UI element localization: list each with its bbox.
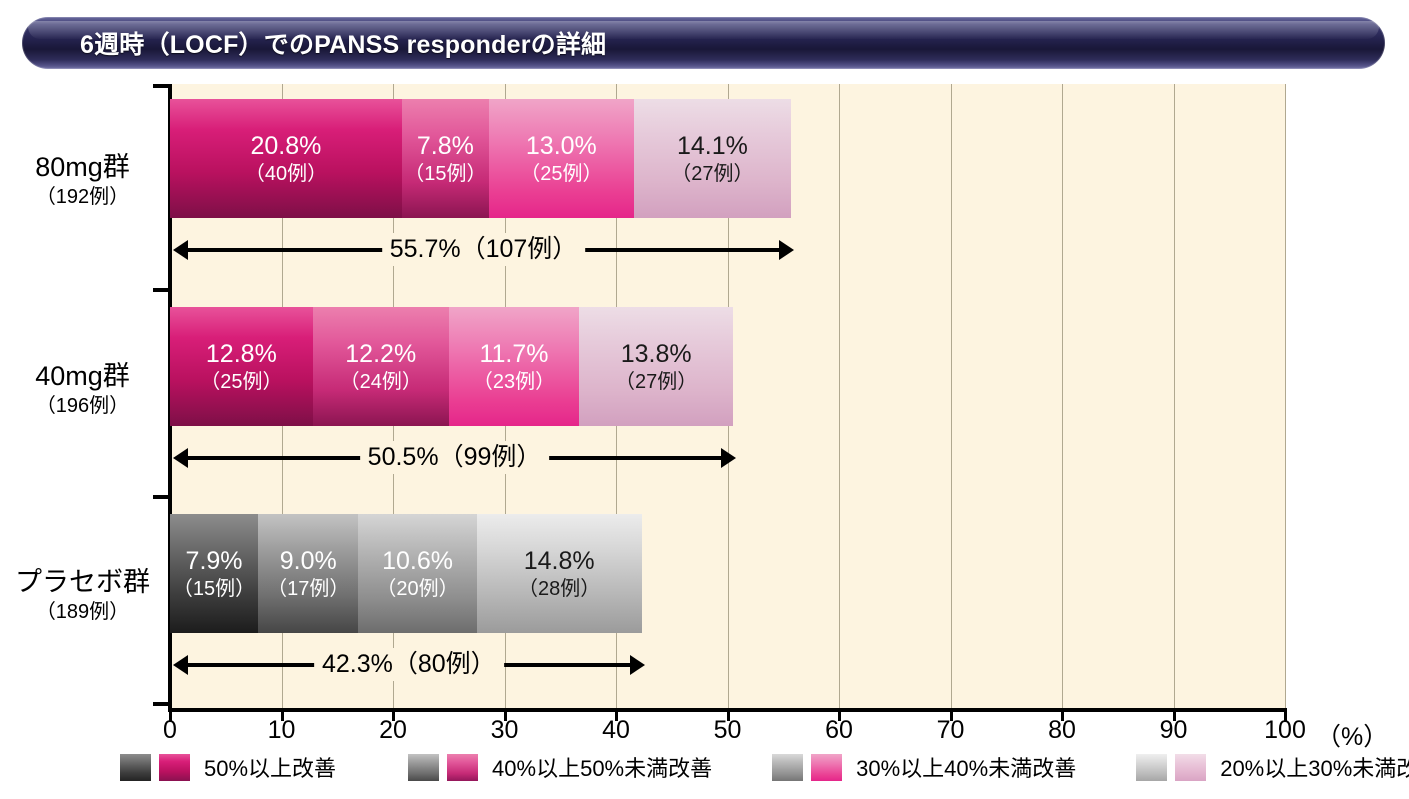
segment-percent-label: 12.2% [345,339,416,369]
category-n: （189例） [0,599,165,625]
y-axis-tick [153,495,172,499]
legend: 50%以上改善40%以上50%未満改善30%以上40%未満改善20%以上30%未… [120,750,1335,784]
segment-count-label: （15例） [173,576,255,602]
legend-label: 30%以上40%未満改善 [856,751,1076,783]
bar-segment: 14.1%（27例） [634,99,791,218]
bar-segment: 20.8%（40例） [170,99,402,218]
x-axis-tick-label: 70 [921,716,981,745]
segment-percent-label: 9.0% [280,546,337,576]
legend-swatch-pink [447,754,478,781]
gridline [1062,84,1063,710]
segment-percent-label: 13.0% [526,131,597,161]
segment-percent-label: 7.9% [186,546,243,576]
segment-percent-label: 10.6% [382,546,453,576]
category-n: （192例） [0,184,165,210]
arrow-head-right-icon [779,240,794,260]
gridline [1285,84,1286,710]
category-n: （196例） [0,393,165,419]
category-label-80mg: 80mg群 （192例） [0,151,165,210]
title-banner: 6週時（LOCF）でのPANSS responderの詳細 [22,17,1385,69]
x-axis-tick-label: 100 [1255,716,1315,745]
bar-segment: 7.9%（15例） [170,514,258,633]
x-axis-tick-label: 10 [252,716,312,745]
total-label: 42.3%（80例） [314,648,504,681]
segment-percent-label: 7.8% [417,131,474,161]
arrow-head-right-icon [630,655,645,675]
y-axis-tick [153,84,172,88]
bar-segment: 10.6%（20例） [358,514,476,633]
segment-percent-label: 14.1% [677,131,748,161]
category-name: 40mg群 [0,360,165,393]
legend-swatch-gray [120,754,151,781]
legend-item[interactable]: 50%以上改善 [120,751,336,783]
bar-segment: 11.7%（23例） [449,307,579,426]
bar-row-80mg: 20.8%（40例）7.8%（15例）13.0%（25例）14.1%（27例） [170,99,791,218]
page-title: 6週時（LOCF）でのPANSS responderの詳細 [80,17,606,69]
legend-swatch-gray [408,754,439,781]
segment-count-label: （17例） [267,576,349,602]
bar-row-40mg: 12.8%（25例）12.2%（24例）11.7%（23例）13.8%（27例） [170,307,733,426]
total-arrow-40mg: 50.5%（99例） [173,445,736,471]
bar-segment: 7.8%（15例） [402,99,489,218]
segment-count-label: （23例） [473,369,555,395]
segment-percent-label: 12.8% [206,339,277,369]
legend-item[interactable]: 40%以上50%未満改善 [408,751,712,783]
arrow-head-left-icon [173,448,188,468]
legend-label: 20%以上30%未満改善 [1220,751,1409,783]
gridline [839,84,840,710]
legend-label: 40%以上50%未満改善 [492,751,712,783]
segment-count-label: （15例） [404,161,486,187]
x-axis-tick-label: 0 [140,716,200,745]
arrow-head-right-icon [721,448,736,468]
bar-segment: 12.8%（25例） [170,307,313,426]
x-axis-unit-label: （%） [1316,717,1388,753]
arrow-head-left-icon [173,655,188,675]
legend-swatch-pink [1175,754,1206,781]
segment-percent-label: 13.8% [621,339,692,369]
total-arrow-80mg: 55.7%（107例） [173,237,794,263]
category-label-placebo: プラセボ群 （189例） [0,566,165,625]
arrow-head-left-icon [173,240,188,260]
x-axis-tick-label: 50 [698,716,758,745]
bar-segment: 14.8%（28例） [477,514,642,633]
legend-swatch-gray [772,754,803,781]
x-axis-tick-label: 60 [809,716,869,745]
gridline [1174,84,1175,710]
legend-item[interactable]: 30%以上40%未満改善 [772,751,1076,783]
y-axis-tick [153,288,172,292]
y-axis-tick [153,702,172,706]
category-name: プラセボ群 [0,566,165,599]
total-label: 50.5%（99例） [360,441,550,474]
bar-segment: 13.8%（27例） [579,307,733,426]
legend-label: 50%以上改善 [204,751,336,783]
segment-percent-label: 20.8% [251,131,322,161]
total-arrow-placebo: 42.3%（80例） [173,652,645,678]
total-label: 55.7%（107例） [382,233,586,266]
segment-count-label: （28例） [518,576,600,602]
segment-percent-label: 14.8% [524,546,595,576]
x-axis-tick-label: 20 [363,716,423,745]
segment-count-label: （40例） [245,161,327,187]
segment-percent-label: 11.7% [479,339,548,369]
x-axis-tick-label: 90 [1144,716,1204,745]
x-axis-tick-label: 40 [586,716,646,745]
bar-row-placebo: 7.9%（15例）9.0%（17例）10.6%（20例）14.8%（28例） [170,514,642,633]
legend-swatch-pink [159,754,190,781]
legend-swatch-gray [1136,754,1167,781]
x-axis-tick-label: 30 [475,716,535,745]
bar-segment: 12.2%（24例） [313,307,449,426]
legend-swatch-pink [811,754,842,781]
bar-segment: 13.0%（25例） [489,99,634,218]
gridline [951,84,952,710]
segment-count-label: （25例） [200,369,282,395]
category-name: 80mg群 [0,151,165,184]
category-label-40mg: 40mg群 （196例） [0,360,165,419]
segment-count-label: （20例） [376,576,458,602]
segment-count-label: （27例） [671,161,753,187]
segment-count-label: （27例） [615,369,697,395]
bar-segment: 9.0%（17例） [258,514,358,633]
segment-count-label: （24例） [340,369,422,395]
x-axis-tick-label: 80 [1032,716,1092,745]
segment-count-label: （25例） [520,161,602,187]
legend-item[interactable]: 20%以上30%未満改善 [1136,751,1409,783]
